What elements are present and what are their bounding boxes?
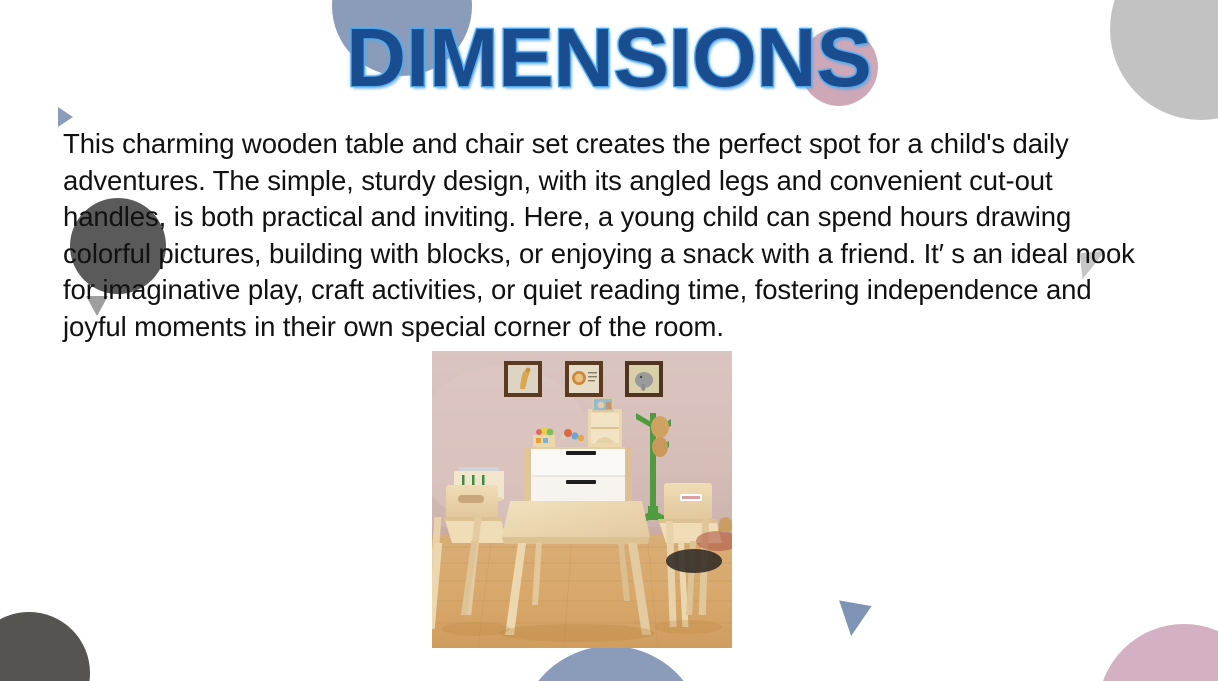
- triangle-bottom-shape: [833, 600, 871, 638]
- framed-picture-giraffe: [504, 361, 542, 397]
- slide-body-paragraph: This charming wooden table and chair set…: [63, 126, 1151, 346]
- circle-bottom-left-shape: [0, 612, 90, 681]
- circle-bottom-right-shape: [1098, 624, 1218, 681]
- triangle-top-left-shape: [58, 107, 73, 127]
- product-photo-illustration: [432, 351, 732, 648]
- slide-title: DIMENSIONS: [0, 16, 1218, 99]
- product-photo: [432, 351, 732, 648]
- circle-bottom-center-shape: [518, 646, 704, 681]
- framed-picture-elephant: [625, 361, 663, 397]
- framed-picture-lion: [565, 361, 603, 397]
- slide-canvas: DIMENSIONS This charming wooden table an…: [0, 0, 1218, 681]
